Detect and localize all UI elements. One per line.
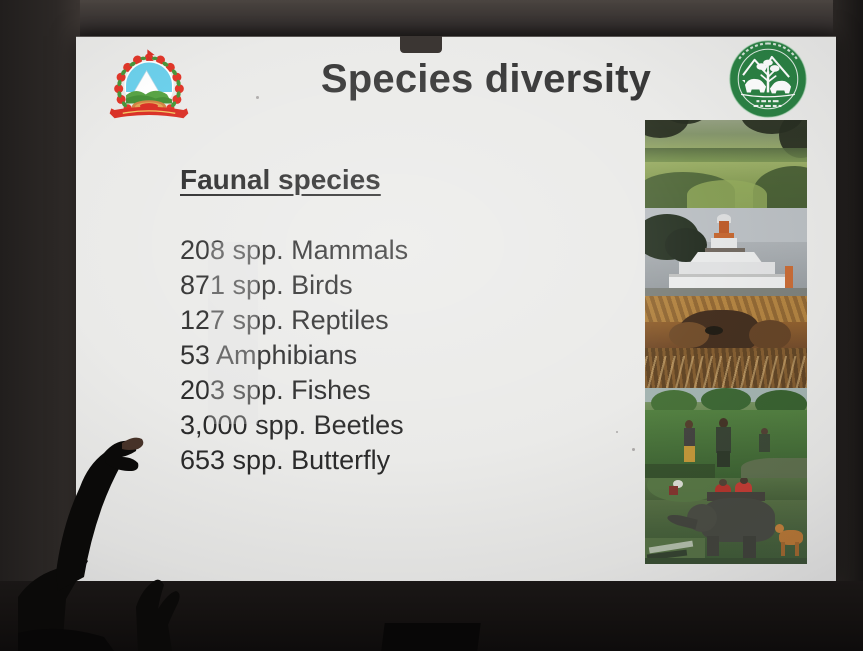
- nepal-government-emblem-logo: [108, 49, 190, 135]
- slide-title: Species diversity: [276, 58, 696, 100]
- list-item: 127 spp. Reptiles: [180, 303, 408, 338]
- green-hillside-photo: [645, 120, 807, 208]
- laptop-silhouette: [381, 623, 480, 651]
- list-item: 871 spp. Birds: [180, 268, 408, 303]
- screen-mount-tab: [400, 36, 442, 53]
- room-wall-right: [833, 0, 863, 651]
- photo-strip: [645, 120, 807, 564]
- list-item: 53 Amphibians: [180, 338, 408, 373]
- screen-top-edge: [76, 36, 836, 37]
- people-vegetation-photo: [645, 388, 807, 478]
- list-item: 208 spp. Mammals: [180, 233, 408, 268]
- presenter-silhouette: [18, 401, 248, 651]
- room-ceiling: [0, 0, 863, 40]
- white-stupa-photo: [645, 208, 807, 296]
- slide-subtitle: Faunal species: [180, 164, 381, 196]
- wildlife-grass-photo: [645, 296, 807, 388]
- elephant-safari-photo: [645, 478, 807, 564]
- conservation-green-circle-logo: [720, 36, 816, 127]
- presentation-photo: Species diversity Faunal species 208 spp…: [0, 0, 863, 651]
